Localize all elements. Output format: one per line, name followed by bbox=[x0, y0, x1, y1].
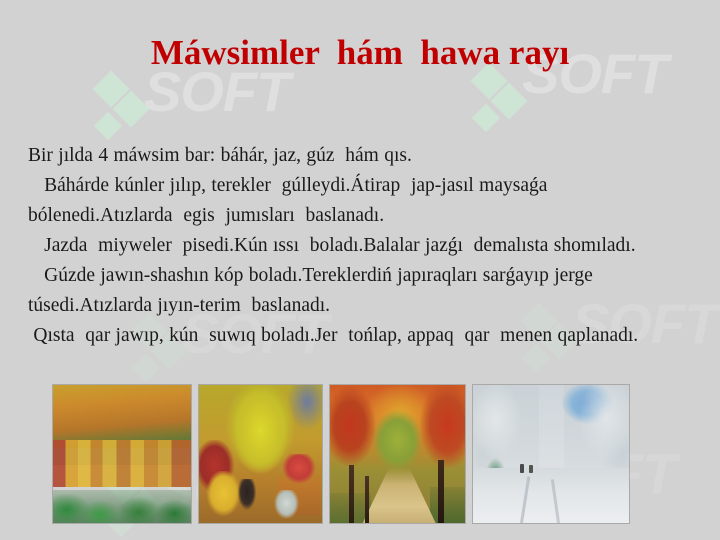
season-image-winter: Qıs bbox=[472, 384, 630, 524]
winter-walking-figure bbox=[529, 465, 533, 473]
slide-body-text: Bir jılda 4 máwsim bar: báhár, jaz, gúz … bbox=[28, 141, 696, 351]
autumn-tree-trunk bbox=[438, 460, 444, 523]
body-paragraph-3: Jazda miyweler pisedi.Kún ıssı boladı.Ba… bbox=[28, 231, 696, 261]
presentation-slide: SOFT SOFT SOFT bbox=[0, 0, 720, 540]
autumn-tree-trunk bbox=[349, 465, 354, 523]
harvest-person bbox=[273, 490, 300, 523]
spring-ground bbox=[53, 385, 191, 448]
body-paragraph-1: Bir jılda 4 máwsim bar: báhár, jaz, gúz … bbox=[28, 141, 696, 171]
slide-title: Máwsimler hám hawa rayı bbox=[0, 32, 720, 74]
watermark-logo-icon bbox=[92, 66, 156, 136]
autumn-grass-right bbox=[430, 487, 465, 523]
season-image-strip: Báhár Gúz Gúz bbox=[52, 384, 630, 524]
winter-walking-figure bbox=[520, 464, 524, 473]
harvest-person bbox=[236, 479, 258, 523]
body-paragraph-5: Qısta qar jawıp, kún suwıq boladı.Jer to… bbox=[28, 321, 696, 351]
body-paragraph-4: Gúzde jawın-shashın kóp boladı.Tereklerd… bbox=[28, 261, 696, 321]
winter-road bbox=[473, 468, 629, 523]
spring-houses bbox=[53, 440, 191, 487]
autumn-tree-trunk bbox=[365, 476, 369, 523]
season-image-spring: Báhár bbox=[52, 384, 192, 524]
season-image-autumn: Gúz bbox=[329, 384, 466, 524]
season-image-harvest: Gúz bbox=[198, 384, 323, 524]
body-paragraph-2: Báhárde kúnler jılıp, terekler gúlleydi.… bbox=[28, 171, 696, 231]
spring-bushes bbox=[53, 490, 191, 523]
